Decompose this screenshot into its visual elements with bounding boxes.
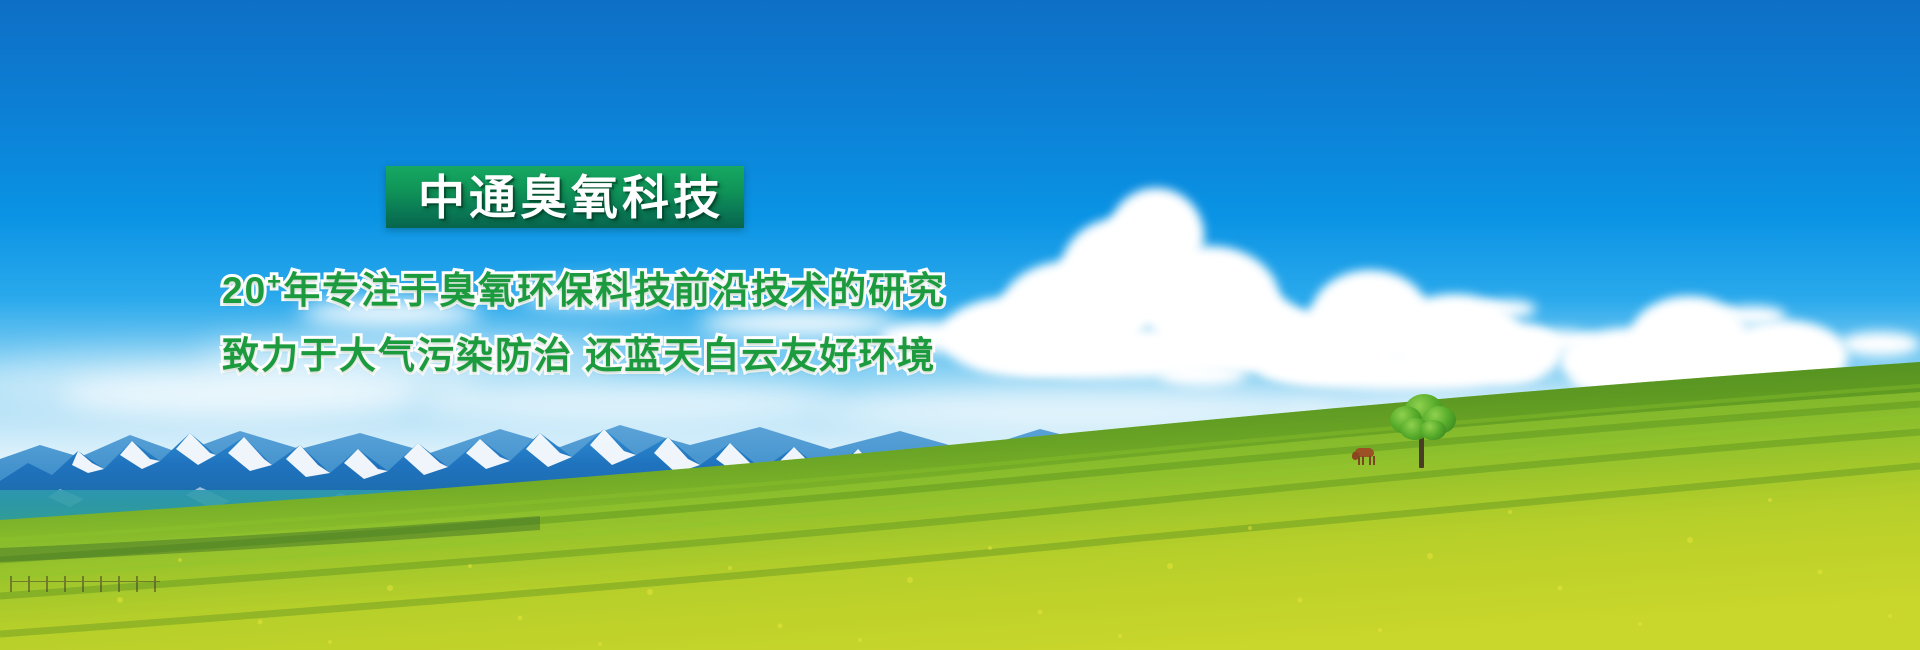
tagline-line-1: 20+年专注于臭氧环保科技前沿技术的研究 — [222, 260, 946, 314]
tagline-line-1-text: 年专注于臭氧环保科技前沿技术的研究 — [283, 270, 946, 311]
banner-copy: 中通臭氧科技 20+年专注于臭氧环保科技前沿技术的研究 致力于大气污染防治 还蓝… — [0, 0, 1920, 650]
hero-banner: 中通臭氧科技 20+年专注于臭氧环保科技前沿技术的研究 致力于大气污染防治 还蓝… — [0, 0, 1920, 650]
brand-title: 中通臭氧科技 — [418, 172, 724, 224]
tagline-line-2: 致力于大气污染防治 还蓝天白云友好环境 — [222, 325, 936, 379]
tagline-plus-superscript: + — [267, 269, 283, 296]
tagline-years-number: 20 — [222, 270, 267, 311]
